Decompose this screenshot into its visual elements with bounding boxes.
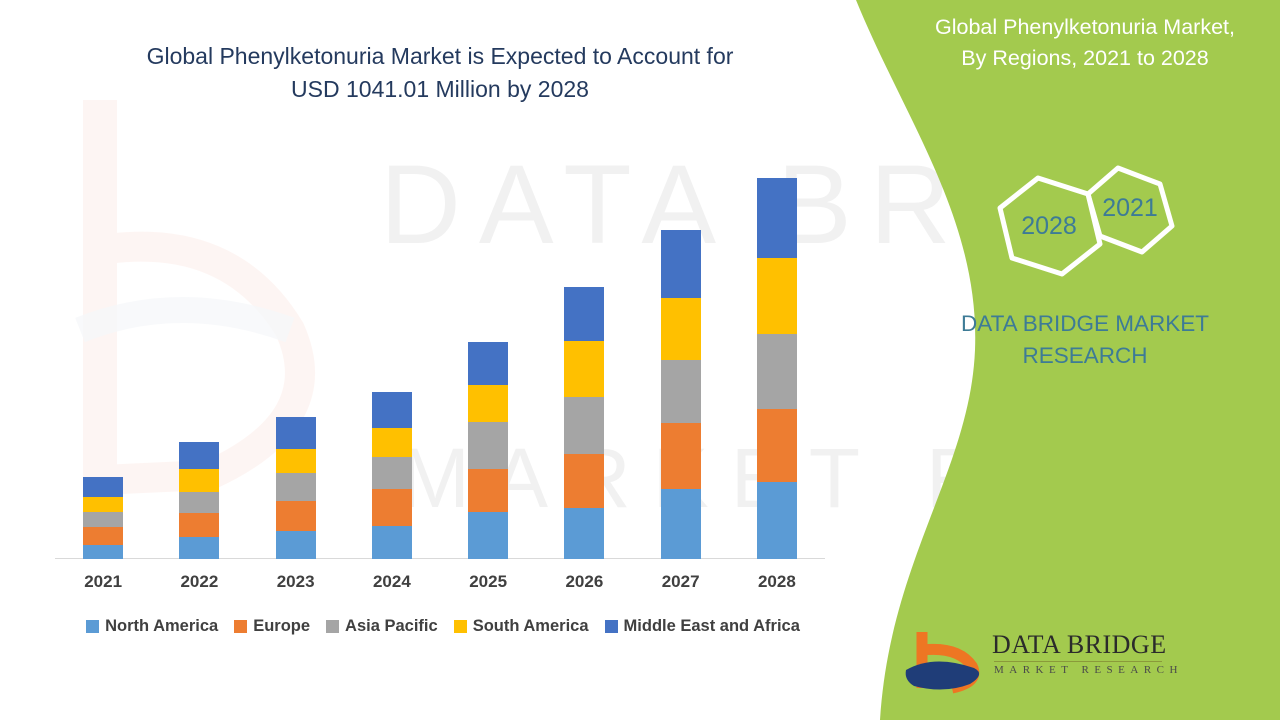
brand-name: DATA BRIDGE MARKET RESEARCH	[890, 308, 1280, 372]
bar-segment[interactable]	[83, 497, 123, 512]
bar-segment[interactable]	[276, 501, 316, 532]
bar-segment[interactable]	[372, 428, 412, 457]
bar-segment[interactable]	[468, 342, 508, 385]
bar-segment[interactable]	[564, 508, 604, 559]
legend-swatch	[605, 620, 618, 633]
legend-label: Middle East and Africa	[624, 617, 800, 636]
bar-segment[interactable]	[661, 298, 701, 359]
brand-line-2: RESEARCH	[890, 340, 1280, 372]
legend-item[interactable]: Europe	[234, 617, 310, 636]
bar-segment[interactable]	[468, 422, 508, 469]
bar-segment[interactable]	[661, 230, 701, 299]
bar-segment[interactable]	[179, 469, 219, 491]
bar-segment[interactable]	[83, 512, 123, 527]
bar-segment[interactable]	[564, 287, 604, 341]
bar-segment[interactable]	[179, 513, 219, 537]
brand-line-1: DATA BRIDGE MARKET	[890, 308, 1280, 340]
bar-segment[interactable]	[179, 537, 219, 559]
green-panel-content: Global Phenylketonuria Market, By Region…	[890, 0, 1280, 720]
x-axis-labels: 20212022202320242025202620272028	[55, 572, 825, 598]
bar-segment[interactable]	[372, 392, 412, 428]
bar-segment[interactable]	[276, 473, 316, 501]
bar-segment[interactable]	[372, 489, 412, 526]
bar-segment[interactable]	[276, 531, 316, 559]
legend-swatch	[326, 620, 339, 633]
plot-area	[55, 150, 825, 559]
legend-item[interactable]: North America	[86, 617, 218, 636]
dbmr-logo-wordmark: DATA BRIDGE	[992, 630, 1167, 660]
bar-segment[interactable]	[564, 454, 604, 508]
bar-segment[interactable]	[276, 449, 316, 474]
bar-segment[interactable]	[372, 526, 412, 559]
panel-title: Global Phenylketonuria Market, By Region…	[890, 12, 1280, 74]
bar-group[interactable]	[564, 287, 604, 559]
legend-item[interactable]: Asia Pacific	[326, 617, 438, 636]
hexagon-2021-label: 2021	[1102, 194, 1158, 222]
legend-label: Asia Pacific	[345, 617, 438, 636]
bar-group[interactable]	[468, 342, 508, 559]
bar-group[interactable]	[83, 477, 123, 559]
x-axis-label: 2024	[344, 572, 440, 592]
bar-segment[interactable]	[179, 492, 219, 513]
x-axis-label: 2025	[440, 572, 536, 592]
bar-group[interactable]	[757, 178, 797, 559]
panel-title-line-1: Global Phenylketonuria Market,	[890, 12, 1280, 43]
bar-segment[interactable]	[564, 341, 604, 397]
x-axis-label: 2027	[633, 572, 729, 592]
bar-group[interactable]	[372, 392, 412, 559]
bar-segment[interactable]	[372, 457, 412, 490]
bar-segment[interactable]	[661, 423, 701, 489]
legend-swatch	[86, 620, 99, 633]
bar-group[interactable]	[179, 442, 219, 559]
dbmr-logo-subtitle: MARKET RESEARCH	[994, 664, 1183, 676]
bar-segment[interactable]	[564, 397, 604, 453]
bar-segment[interactable]	[661, 360, 701, 423]
hexagon-badges: 2021 2028	[970, 148, 1270, 278]
bar-segment[interactable]	[757, 334, 797, 409]
stacked-bar-chart: 20212022202320242025202620272028	[0, 0, 860, 720]
bar-segment[interactable]	[179, 442, 219, 469]
x-axis-label: 2022	[151, 572, 247, 592]
legend-swatch	[454, 620, 467, 633]
x-axis-label: 2026	[536, 572, 632, 592]
dbmr-logo-rule	[994, 661, 1162, 662]
panel-title-line-2: By Regions, 2021 to 2028	[890, 43, 1280, 74]
x-axis-label: 2021	[55, 572, 151, 592]
bar-segment[interactable]	[757, 178, 797, 259]
hexagon-2028-label: 2028	[1021, 212, 1077, 240]
bar-segment[interactable]	[468, 385, 508, 422]
bar-segment[interactable]	[757, 482, 797, 559]
legend-item[interactable]: Middle East and Africa	[605, 617, 800, 636]
bar-segment[interactable]	[83, 477, 123, 496]
bar-segment[interactable]	[276, 417, 316, 449]
bar-segment[interactable]	[83, 545, 123, 559]
bar-segment[interactable]	[468, 469, 508, 512]
legend-item[interactable]: South America	[454, 617, 589, 636]
bar-group[interactable]	[276, 417, 316, 559]
x-axis-label: 2023	[248, 572, 344, 592]
infographic-page: DATA BRIDGE MARKET RESEARCH Global Pheny…	[0, 0, 1280, 720]
bar-segment[interactable]	[757, 258, 797, 334]
bar-group[interactable]	[661, 230, 701, 559]
chart-legend: North AmericaEuropeAsia PacificSouth Ame…	[48, 617, 838, 636]
legend-label: South America	[473, 617, 589, 636]
hexagon-group-icon: 2021 2028	[970, 148, 1270, 278]
legend-swatch	[234, 620, 247, 633]
dbmr-logo-mark-icon	[900, 626, 1000, 696]
legend-label: Europe	[253, 617, 310, 636]
legend-label: North America	[105, 617, 218, 636]
x-axis-label: 2028	[729, 572, 825, 592]
bar-segment[interactable]	[661, 489, 701, 559]
bar-segment[interactable]	[757, 409, 797, 483]
bar-segment[interactable]	[468, 512, 508, 559]
dbmr-logo: DATA BRIDGE MARKET RESEARCH	[890, 620, 1220, 700]
bar-segment[interactable]	[83, 527, 123, 544]
